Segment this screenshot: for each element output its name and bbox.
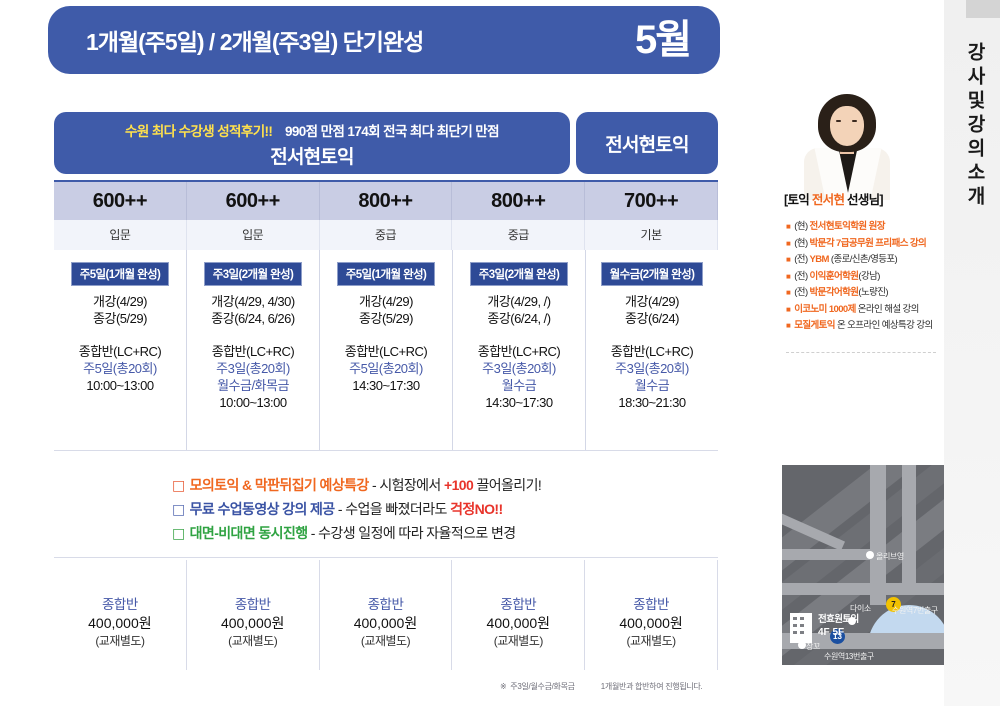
course-type: 종합반(LC+RC) bbox=[590, 343, 714, 360]
level-cell: 입문 bbox=[54, 220, 187, 250]
price-cell: 종합반 400,000원 (교재별도) bbox=[54, 560, 187, 670]
month-badge: 5월 bbox=[635, 20, 690, 60]
course-freq: 주5일(총20회) bbox=[324, 360, 448, 377]
course-type: 종합반(LC+RC) bbox=[58, 343, 182, 360]
brand-name-right: 전서현토익 bbox=[605, 130, 688, 157]
notice-dash: - 수업을 빠졌더라도 bbox=[335, 501, 450, 517]
course-days: 월수금 bbox=[457, 377, 581, 394]
price-section: 종합반 400,000원 (교재별도) 종합반 400,000원 (교재별도) … bbox=[54, 560, 718, 670]
promo-highlight: 수원 최다 수강생 성적후기!! bbox=[125, 124, 272, 139]
course-freq: 주5일(총20회) bbox=[58, 360, 182, 377]
footnote-left: ※ 주3일/월수금/화목금 bbox=[500, 681, 575, 692]
score-cell: 600++ bbox=[54, 182, 187, 220]
notice-tail: 끌어올리기! bbox=[473, 477, 541, 493]
footnote: ※ 주3일/월수금/화목금 1개월반과 합반하여 진행됩니다. bbox=[500, 681, 760, 692]
notice-line: □무료 수업동영상 강의 제공 - 수업을 빠졌더라도 걱정NO!! bbox=[54, 498, 718, 522]
course-freq: 주3일(총20회) bbox=[590, 360, 714, 377]
table-grid: 600++ 600++ 800++ 800++ 700++ 입문 입문 중급 중… bbox=[54, 180, 718, 451]
price-cell: 종합반 400,000원 (교재별도) bbox=[320, 560, 453, 670]
brand-header-right: 전서현토익 bbox=[576, 112, 718, 174]
course-days: 월수금/화목금 bbox=[191, 377, 315, 394]
price-note: (교재별도) bbox=[452, 632, 584, 650]
price-label: 종합반 bbox=[187, 596, 319, 614]
score-cell: 800++ bbox=[452, 182, 585, 220]
instructor-name: [토익 전서현 선생님] bbox=[784, 189, 883, 208]
map-building-name: 전효원토익 bbox=[818, 611, 859, 625]
poster-title: 1개월(주5일) / 2개월(주3일) 단기완성 bbox=[86, 23, 423, 57]
course-time: 14:30~17:30 bbox=[457, 394, 581, 411]
level-cell: 중급 bbox=[320, 220, 453, 250]
score-row: 600++ 600++ 800++ 800++ 700++ bbox=[54, 182, 718, 220]
building-icon bbox=[790, 613, 812, 643]
start-date: 개강(4/29) bbox=[590, 293, 714, 310]
promo-header: 수원 최다 수강생 성적후기!! 990점 만점 174회 전국 최다 최단기 … bbox=[54, 112, 570, 174]
end-date: 종강(5/29) bbox=[324, 310, 448, 327]
checkbox-icon: □ bbox=[172, 478, 185, 494]
notice-emphasis: 걱정NO!! bbox=[450, 501, 502, 517]
level-cell: 입문 bbox=[187, 220, 320, 250]
course-detail-cell: 주3일(2개월 완성) 개강(4/29, /) 종강(6/24, /) 종합반(… bbox=[453, 250, 586, 450]
notice-emphasis: +100 bbox=[444, 477, 473, 493]
credential-list: ■(현) 전서현토익학원 원장 ■(현) 박문각 7급공무원 프리패스 강의 ■… bbox=[786, 219, 938, 335]
table-header-row: 수원 최다 수강생 성적후기!! 990점 만점 174회 전국 최다 최단기 … bbox=[54, 112, 718, 174]
score-cell: 800++ bbox=[320, 182, 453, 220]
price-amount: 400,000원 bbox=[585, 614, 717, 632]
course-badge: 주5일(1개월 완성) bbox=[71, 262, 170, 286]
course-freq: 주3일(총20회) bbox=[191, 360, 315, 377]
start-date: 개강(4/29, /) bbox=[457, 293, 581, 310]
course-detail-cell: 주5일(1개월 완성) 개강(4/29) 종강(5/29) 종합반(LC+RC)… bbox=[320, 250, 453, 450]
notice-dash: - 시험장에서 bbox=[369, 477, 444, 493]
price-note: (교재별도) bbox=[54, 632, 186, 650]
end-date: 종강(6/24) bbox=[590, 310, 714, 327]
course-time: 14:30~17:30 bbox=[324, 377, 448, 394]
credential-item: ■(현) 전서현토익학원 원장 bbox=[786, 219, 938, 236]
price-label: 종합반 bbox=[320, 596, 452, 614]
map-label-oliveyoung: 올리브영 bbox=[876, 551, 904, 562]
price-label: 종합반 bbox=[452, 596, 584, 614]
price-cell: 종합반 400,000원 (교재별도) bbox=[585, 560, 718, 670]
brand-name: 전서현토익 bbox=[270, 142, 353, 169]
notice-block: □모의토익 & 막판뒤집기 예상특강 - 시험장에서 +100 끌어올리기! □… bbox=[54, 470, 718, 558]
end-date: 종강(6/24, 6/26) bbox=[191, 310, 315, 327]
notice-key: 무료 수업동영상 강의 제공 bbox=[190, 501, 335, 517]
price-note: (교재별도) bbox=[187, 632, 319, 650]
price-amount: 400,000원 bbox=[54, 614, 186, 632]
score-cell: 600++ bbox=[187, 182, 320, 220]
map-marker-dot bbox=[866, 551, 874, 559]
price-amount: 400,000원 bbox=[187, 614, 319, 632]
rail-tab bbox=[966, 0, 1000, 18]
map-building-floors: 4F 5F bbox=[818, 627, 844, 638]
rail-vertical-title: 강사및강의소개 bbox=[962, 42, 988, 210]
instructor-photo bbox=[790, 92, 902, 200]
location-map: 올리브영 다이소 창꼬 7 수원역7번출구 13 수원역13번출구 전효원토익 … bbox=[782, 465, 964, 665]
course-type: 종합반(LC+RC) bbox=[324, 343, 448, 360]
side-rail: 강사및강의소개 bbox=[944, 0, 1000, 706]
promo-rest: 990점 만점 174회 전국 최다 최단기 만점 bbox=[285, 124, 499, 139]
course-type: 종합반(LC+RC) bbox=[191, 343, 315, 360]
credential-item: ■이코노미 1000제 온라인 해설 강의 bbox=[786, 302, 938, 319]
notice-dash: - 수강생 일정에 따라 자율적으로 변경 bbox=[308, 525, 516, 541]
notice-key: 대면-비대면 동시진행 bbox=[190, 525, 308, 541]
course-badge: 주3일(2개월 완성) bbox=[204, 262, 303, 286]
price-amount: 400,000원 bbox=[320, 614, 452, 632]
main-panel: 1개월(주5일) / 2개월(주3일) 단기완성 5월 수원 최다 수강생 성적… bbox=[0, 0, 762, 706]
course-badge: 주3일(2개월 완성) bbox=[470, 262, 569, 286]
end-date: 종강(6/24, /) bbox=[457, 310, 581, 327]
score-cell: 700++ bbox=[585, 182, 718, 220]
credential-item: ■(전) 이익훈어학원(강남) bbox=[786, 269, 938, 286]
detail-row: 주5일(1개월 완성) 개강(4/29) 종강(5/29) 종합반(LC+RC)… bbox=[54, 250, 718, 451]
price-row: 종합반 400,000원 (교재별도) 종합반 400,000원 (교재별도) … bbox=[54, 560, 718, 670]
level-cell: 기본 bbox=[585, 220, 718, 250]
course-days: 월수금 bbox=[590, 377, 714, 394]
notice-line: □모의토익 & 막판뒤집기 예상특강 - 시험장에서 +100 끌어올리기! bbox=[54, 474, 718, 498]
map-label-exit13: 수원역13번출구 bbox=[824, 651, 874, 662]
course-time: 10:00~13:00 bbox=[58, 377, 182, 394]
notice-key: 모의토익 & 막판뒤집기 예상특강 bbox=[190, 477, 369, 493]
price-label: 종합반 bbox=[54, 596, 186, 614]
course-detail-cell: 주3일(2개월 완성) 개강(4/29, 4/30) 종강(6/24, 6/26… bbox=[187, 250, 320, 450]
course-detail-cell: 월수금(2개월 완성) 개강(4/29) 종강(6/24) 종합반(LC+RC)… bbox=[586, 250, 718, 450]
course-badge: 월수금(2개월 완성) bbox=[601, 262, 704, 286]
course-badge: 주5일(1개월 완성) bbox=[337, 262, 436, 286]
checkbox-icon: □ bbox=[172, 526, 185, 542]
footnote-right: 1개월반과 합반하여 진행됩니다. bbox=[601, 681, 703, 692]
price-cell: 종합반 400,000원 (교재별도) bbox=[452, 560, 585, 670]
course-time: 10:00~13:00 bbox=[191, 394, 315, 411]
course-freq: 주3일(총20회) bbox=[457, 360, 581, 377]
price-amount: 400,000원 bbox=[452, 614, 584, 632]
level-cell: 중급 bbox=[452, 220, 585, 250]
divider bbox=[786, 352, 936, 353]
map-label-exit7: 수원역7번출구 bbox=[892, 605, 938, 616]
start-date: 개강(4/29) bbox=[58, 293, 182, 310]
price-cell: 종합반 400,000원 (교재별도) bbox=[187, 560, 320, 670]
schedule-table: 수원 최다 수강생 성적후기!! 990점 만점 174회 전국 최다 최단기 … bbox=[54, 112, 718, 451]
title-banner: 1개월(주5일) / 2개월(주3일) 단기완성 5월 bbox=[48, 6, 720, 74]
instructor-panel: [토익 전서현 선생님] ■(현) 전서현토익학원 원장 ■(현) 박문각 7급… bbox=[762, 0, 944, 706]
credential-item: ■(전) 박문각어학원(노량진) bbox=[786, 285, 938, 302]
course-time: 18:30~21:30 bbox=[590, 394, 714, 411]
price-note: (교재별도) bbox=[585, 632, 717, 650]
checkbox-icon: □ bbox=[172, 502, 185, 518]
end-date: 종강(5/29) bbox=[58, 310, 182, 327]
level-row: 입문 입문 중급 중급 기본 bbox=[54, 220, 718, 250]
course-type: 종합반(LC+RC) bbox=[457, 343, 581, 360]
credential-item: ■(현) 박문각 7급공무원 프리패스 강의 bbox=[786, 236, 938, 253]
notice-line: □대면-비대면 동시진행 - 수강생 일정에 따라 자율적으로 변경 bbox=[54, 522, 718, 546]
course-detail-cell: 주5일(1개월 완성) 개강(4/29) 종강(5/29) 종합반(LC+RC)… bbox=[54, 250, 187, 450]
start-date: 개강(4/29) bbox=[324, 293, 448, 310]
price-label: 종합반 bbox=[585, 596, 717, 614]
start-date: 개강(4/29, 4/30) bbox=[191, 293, 315, 310]
credential-item: ■모질게토익 온 오프라인 예상특강 강의 bbox=[786, 318, 938, 335]
price-note: (교재별도) bbox=[320, 632, 452, 650]
poster-page: 1개월(주5일) / 2개월(주3일) 단기완성 5월 수원 최다 수강생 성적… bbox=[0, 0, 1000, 706]
credential-item: ■(전) YBM (종로/신촌/영등포) bbox=[786, 252, 938, 269]
